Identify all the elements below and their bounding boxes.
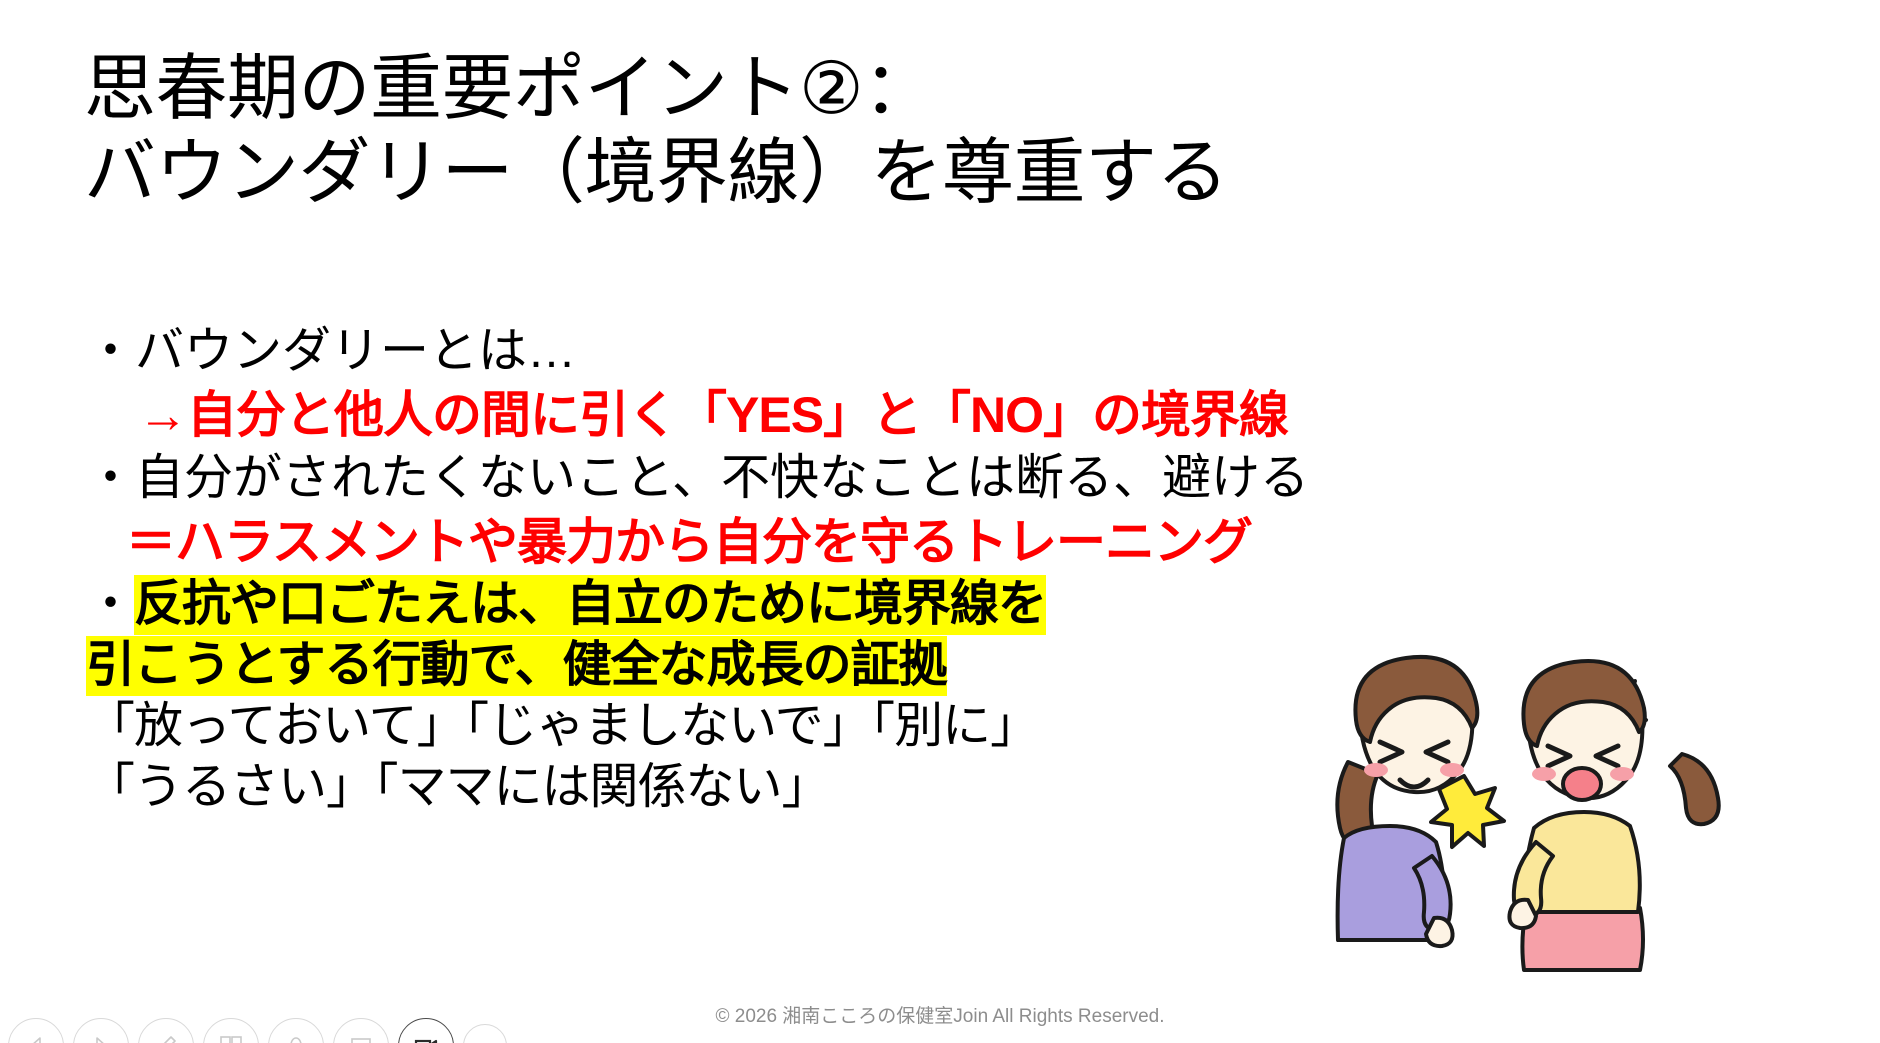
angry-girls-illustration [1330, 650, 1780, 1000]
grid-icon [218, 1033, 244, 1043]
body-line-red-2: ＝ハラスメントや暴力から自分を守るトレーニング [86, 510, 1586, 574]
title-line-2: バウンダリー（境界線）を尊重する [84, 132, 1644, 216]
body-line-highlight-1: ・反抗や口ごたえは、自立のために境界線を [86, 574, 1586, 635]
laser-icon [283, 1033, 309, 1043]
prev-arrow-icon [23, 1033, 49, 1043]
next-slide-button[interactable] [73, 1018, 129, 1043]
pen-icon [153, 1033, 179, 1043]
video-camera-icon [413, 1033, 439, 1043]
highlighted-text: 引こうとする行動で、健全な成長の証拠 [86, 636, 947, 696]
highlighted-text: 反抗や口ごたえは、自立のために境界線を [134, 575, 1046, 635]
next-arrow-icon [88, 1033, 114, 1043]
bullet-marker: ・ [86, 577, 134, 631]
title-line-1: 思春期の重要ポイント②： [84, 48, 1644, 132]
prev-slide-button[interactable] [8, 1018, 64, 1043]
page-title: 思春期の重要ポイント②： バウンダリー（境界線）を尊重する [84, 48, 1644, 215]
body-line-red-1: →自分と他人の間に引く「YES」と「NO」の境界線 [86, 383, 1586, 447]
screen-icon [348, 1033, 374, 1043]
slide-grid-button[interactable] [203, 1018, 259, 1043]
girl-right-figure [1509, 661, 1718, 970]
video-button[interactable] [398, 1018, 454, 1043]
body-line-bullet-2: ・自分がされたくないこと、不快なことは断る、避ける [86, 447, 1586, 510]
laser-pointer-button[interactable] [268, 1018, 324, 1043]
fullscreen-button[interactable] [333, 1018, 389, 1043]
more-options-button[interactable] [463, 1024, 507, 1043]
ellipsis-icon [474, 1035, 496, 1043]
presentation-slide: 思春期の重要ポイント②： バウンダリー（境界線）を尊重する ・バウンダリーとは…… [0, 0, 1880, 1043]
pen-tool-button[interactable] [138, 1018, 194, 1043]
presentation-toolbar[interactable] [8, 1018, 507, 1043]
body-line-bullet-1: ・バウンダリーとは… [86, 320, 1586, 383]
